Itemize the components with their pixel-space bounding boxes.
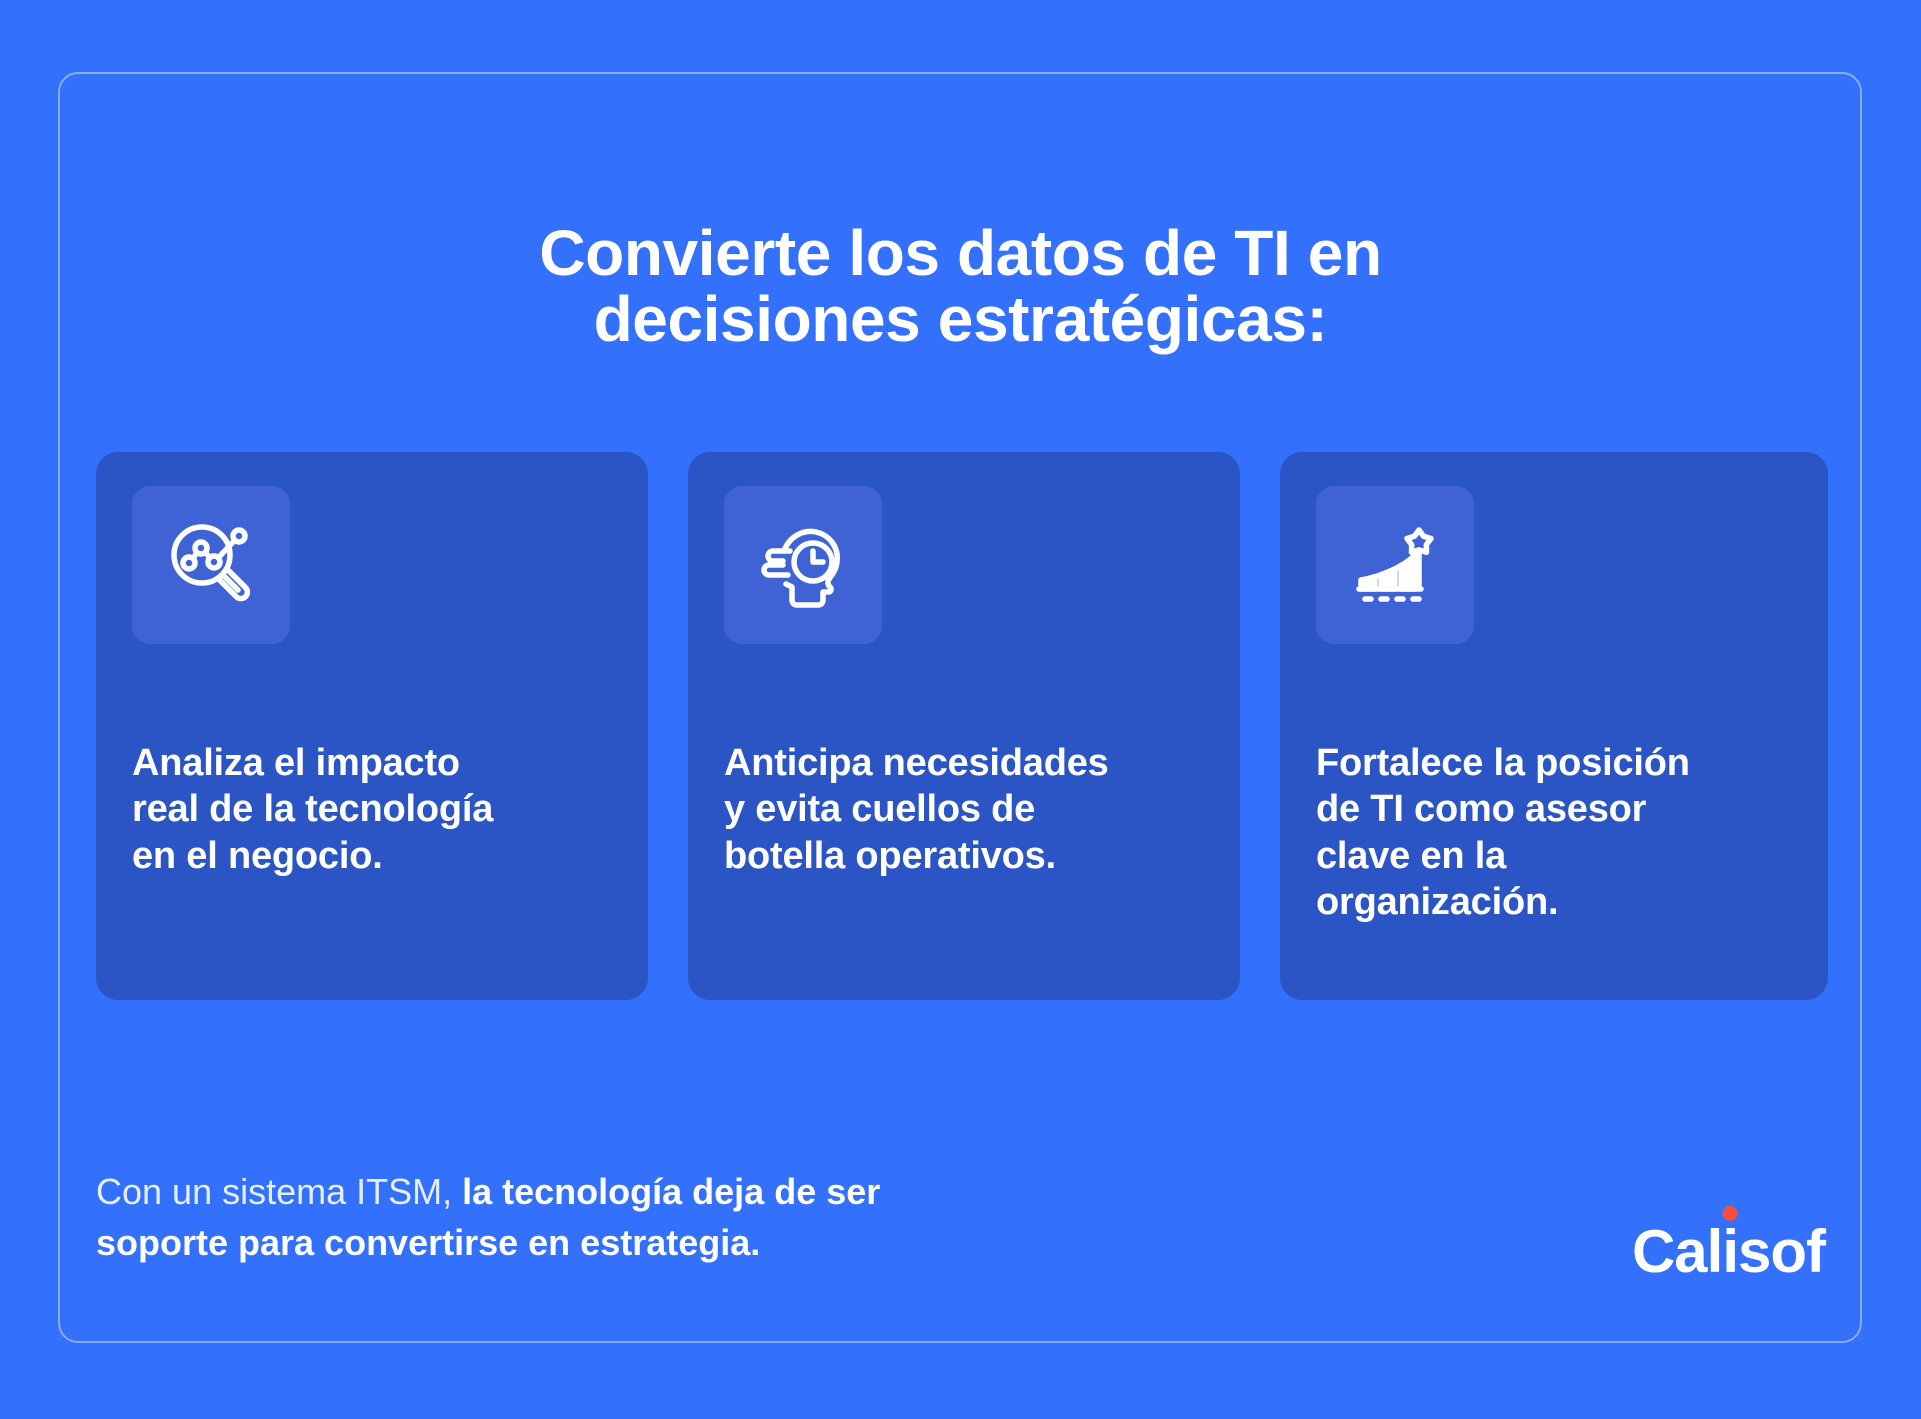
benefit-card-text: Anticipa necesidades y evita cuellos de … [724,740,1204,879]
footnote-strong-1: la tecnología deja de ser [462,1171,880,1212]
card-text-line: real de la tecnología [132,786,612,832]
page-title-line-1: Convierte los datos de TI en [0,221,1921,287]
footnote: Con un sistema ITSM, la tecnología deja … [96,1166,1196,1268]
slide-canvas: Convierte los datos de TI en decisiones … [0,0,1921,1419]
card-text-line: organización. [1316,879,1792,925]
card-text-line: Anticipa necesidades [724,740,1204,786]
icon-tile [1316,486,1474,644]
logo-letter-i: i [1722,1218,1738,1285]
card-text-line: botella operativos. [724,833,1204,879]
logo-dot-icon [1723,1206,1738,1221]
page-title-line-2: decisiones estratégicas: [0,287,1921,353]
magnifier-analytics-icon [163,517,259,613]
card-text-line: Fortalece la posición [1316,740,1792,786]
page-title: Convierte los datos de TI en decisiones … [0,221,1921,353]
icon-tile [132,486,290,644]
benefit-card-text: Analiza el impacto real de la tecnología… [132,740,612,879]
benefit-card-posicion-estrategica[interactable]: Fortalece la posición de TI como asesor … [1280,452,1828,1000]
icon-tile [724,486,882,644]
logo-text-part-2: sof [1738,1222,1825,1282]
footnote-lead: Con un sistema ITSM, [96,1171,462,1212]
benefit-card-analisis-impacto[interactable]: Analiza el impacto real de la tecnología… [96,452,648,1000]
calisof-logo[interactable]: Calisof [1632,1222,1825,1282]
card-text-line: en el negocio. [132,833,612,879]
footnote-strong-2: soporte para convertirse en estrategia. [96,1222,760,1263]
logo-letter-i-wrap: i [1722,1222,1738,1282]
card-text-line: de TI como asesor [1316,786,1792,832]
benefit-card-anticipacion-necesidades[interactable]: Anticipa necesidades y evita cuellos de … [688,452,1240,1000]
head-clock-icon [755,517,851,613]
card-text-line: Analiza el impacto [132,740,612,786]
benefit-card-list: Analiza el impacto real de la tecnología… [96,452,1828,1000]
logo-text-part-1: Cal [1632,1222,1722,1282]
card-text-line: clave en la [1316,833,1792,879]
growth-chart-star-icon [1347,517,1443,613]
card-text-line: y evita cuellos de [724,786,1204,832]
benefit-card-text: Fortalece la posición de TI como asesor … [1316,740,1792,925]
